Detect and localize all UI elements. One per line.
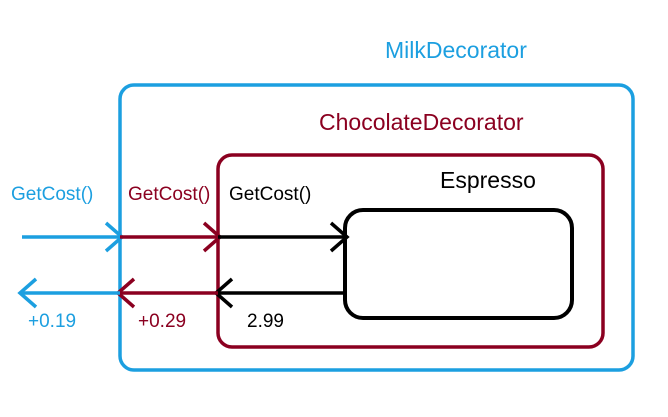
chocolate-decorator-title: ChocolateDecorator [319,111,524,134]
call-label-milk-to-chocolate: GetCost() [128,185,210,204]
return-arrow-espresso-to-chocolate [216,279,345,307]
decorator-sequence-diagram: MilkDecorator ChocolateDecorator Espress… [0,0,668,417]
call-arrow-milk-to-chocolate [120,223,220,251]
return-label-espresso-to-chocolate: 2.99 [247,312,284,331]
return-arrow-chocolate-to-milk [118,279,218,307]
call-arrow-client-to-milk [22,223,122,251]
call-arrow-chocolate-to-espresso [218,223,347,251]
return-arrow-milk-to-client [20,279,120,307]
diagram-canvas [0,0,668,417]
return-label-chocolate-to-milk: +0.29 [138,312,186,331]
call-label-client-to-milk: GetCost() [11,185,93,204]
espresso-title: Espresso [440,169,536,192]
espresso-box [345,210,572,318]
milk-decorator-title: MilkDecorator [385,39,527,62]
return-label-milk-to-client: +0.19 [28,312,76,331]
call-label-chocolate-to-espresso: GetCost() [229,185,311,204]
